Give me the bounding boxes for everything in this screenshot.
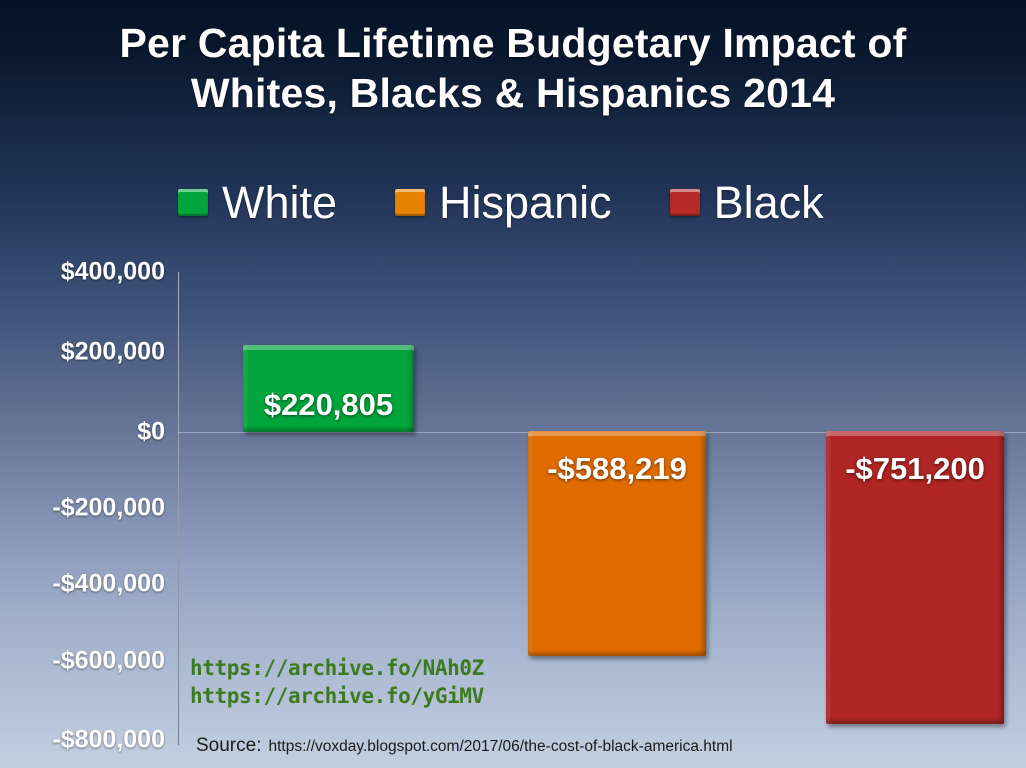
bar-hispanic[interactable]: -$588,219 xyxy=(528,431,706,656)
y-axis-line xyxy=(178,272,179,745)
zero-gridline xyxy=(178,432,1026,433)
archive-link-2[interactable]: https://archive.fo/yGiMV xyxy=(190,683,484,711)
legend-item-white[interactable]: White xyxy=(178,180,337,225)
y-tick-label: $0 xyxy=(0,418,165,447)
chart-legend: White Hispanic Black xyxy=(178,180,978,225)
legend-label-hispanic: Hispanic xyxy=(439,180,612,225)
archive-link-1[interactable]: https://archive.fo/NAh0Z xyxy=(190,655,484,683)
y-tick-label: -$200,000 xyxy=(0,494,165,523)
legend-item-hispanic[interactable]: Hispanic xyxy=(395,180,612,225)
bar-hispanic-face xyxy=(528,431,706,656)
y-tick-label: -$800,000 xyxy=(0,726,165,755)
source-label: Source: xyxy=(196,735,261,757)
bar-black-face xyxy=(826,431,1004,724)
legend-swatch-white-icon xyxy=(178,189,208,216)
bar-white[interactable]: $220,805 xyxy=(243,345,414,432)
y-tick-label: -$600,000 xyxy=(0,647,165,676)
bar-black[interactable]: -$751,200 xyxy=(826,431,1004,724)
legend-item-black[interactable]: Black xyxy=(670,180,824,225)
bar-hispanic-value-label: -$588,219 xyxy=(528,451,706,487)
source-url[interactable]: https://voxday.blogspot.com/2017/06/the-… xyxy=(268,738,732,756)
bar-black-value-label: -$751,200 xyxy=(826,451,1004,487)
y-tick-label: $200,000 xyxy=(0,338,165,367)
legend-swatch-hispanic-icon xyxy=(395,189,425,216)
legend-swatch-black-icon xyxy=(670,189,700,216)
source-line: Source: https://voxday.blogspot.com/2017… xyxy=(196,735,733,757)
archive-links: https://archive.fo/NAh0Z https://archive… xyxy=(190,655,484,710)
page-title: Per Capita Lifetime Budgetary Impact of … xyxy=(0,18,1026,118)
bar-white-face xyxy=(243,345,414,432)
legend-label-white: White xyxy=(222,180,337,225)
legend-label-black: Black xyxy=(714,180,824,225)
y-tick-label: $400,000 xyxy=(0,258,165,287)
y-tick-label: -$400,000 xyxy=(0,570,165,599)
bar-white-value-label: $220,805 xyxy=(243,387,414,423)
